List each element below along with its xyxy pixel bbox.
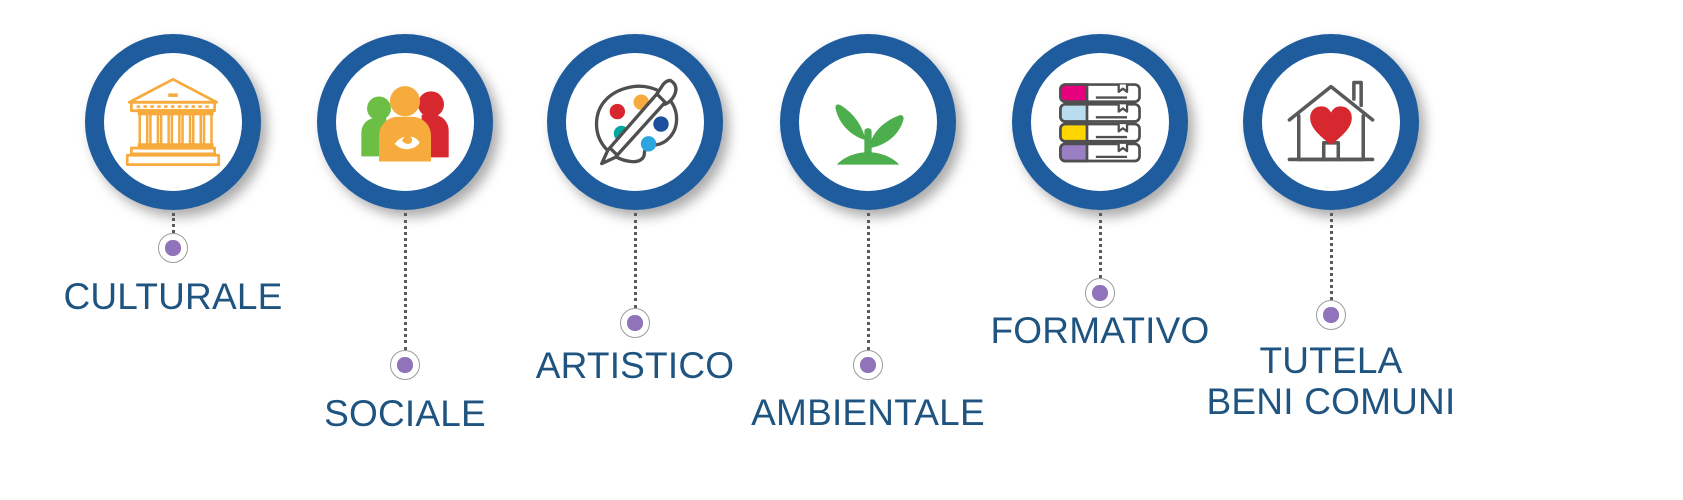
marker-pip <box>1092 285 1107 300</box>
marker-pip <box>627 315 642 330</box>
node-label-formativo: FORMATIVO <box>991 310 1210 351</box>
icon-circle-culturale[interactable] <box>85 34 261 210</box>
connector-line <box>867 213 870 350</box>
marker-pip <box>165 240 180 255</box>
connector-line <box>1099 213 1102 278</box>
icon-circle-formativo[interactable] <box>1012 34 1188 210</box>
node-label-culturale: CULTURALE <box>63 276 282 317</box>
classical-temple-icon <box>121 70 225 174</box>
marker-dot-ambientale[interactable] <box>853 350 883 380</box>
book-stack-icon <box>1048 70 1152 174</box>
marker-pip <box>397 357 412 372</box>
icon-circle-tutela-beni-comuni[interactable] <box>1243 34 1419 210</box>
marker-dot-sociale[interactable] <box>390 350 420 380</box>
seedling-sprout-icon <box>816 70 920 174</box>
infographic-canvas: CULTURALESOCIALEARTISTICOAMBIENTALEFORMA… <box>0 0 1683 500</box>
marker-dot-tutela-beni-comuni[interactable] <box>1316 300 1346 330</box>
icon-circle-inner <box>104 53 242 191</box>
icon-circle-inner <box>1031 53 1169 191</box>
marker-pip <box>1323 307 1338 322</box>
marker-dot-formativo[interactable] <box>1085 278 1115 308</box>
house-heart-icon <box>1279 70 1383 174</box>
node-label-artistico: ARTISTICO <box>536 345 734 386</box>
icon-circle-inner <box>336 53 474 191</box>
node-label-tutela-beni-comuni: TUTELA BENI COMUNI <box>1207 340 1456 423</box>
marker-dot-artistico[interactable] <box>620 308 650 338</box>
marker-dot-culturale[interactable] <box>158 233 188 263</box>
icon-circle-inner <box>799 53 937 191</box>
paint-palette-icon <box>583 70 687 174</box>
node-label-ambientale: AMBIENTALE <box>751 392 985 433</box>
icon-circle-inner <box>1262 53 1400 191</box>
people-group-icon <box>353 70 457 174</box>
icon-circle-ambientale[interactable] <box>780 34 956 210</box>
node-label-sociale: SOCIALE <box>324 393 486 434</box>
marker-pip <box>860 357 875 372</box>
icon-circle-sociale[interactable] <box>317 34 493 210</box>
icon-circle-artistico[interactable] <box>547 34 723 210</box>
connector-line <box>172 213 175 233</box>
icon-circle-inner <box>566 53 704 191</box>
connector-line <box>634 213 637 308</box>
connector-line <box>1330 213 1333 300</box>
connector-line <box>404 213 407 350</box>
